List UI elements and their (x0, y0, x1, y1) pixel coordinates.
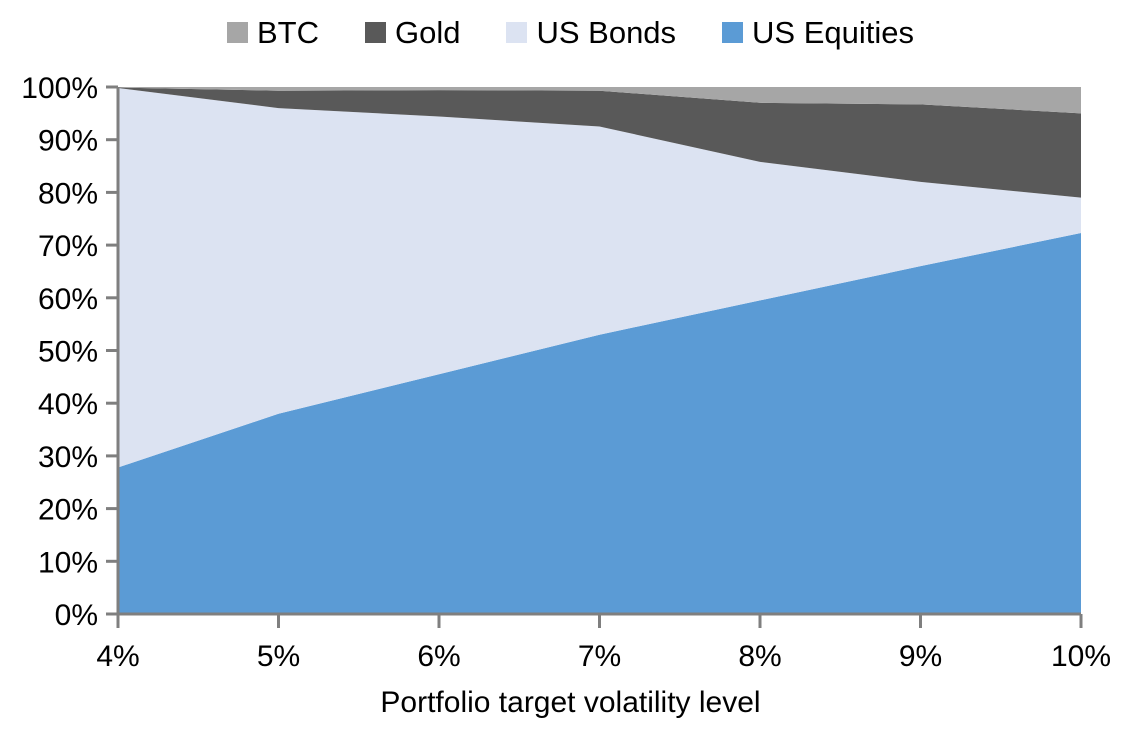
y-tick-label: 80% (38, 177, 98, 210)
x-tick-label: 10% (1051, 640, 1111, 673)
stacked-area-chart: BTC Gold US Bonds US Equities 0%10%20%30… (0, 0, 1141, 742)
y-axis-group: 0%10%20%30%40%50%60%70%80%90%100% (21, 72, 118, 632)
x-axis-group: 4%5%6%7%8%9%10% (96, 614, 1111, 673)
x-tick-label: 5% (257, 640, 300, 673)
y-tick-label: 50% (38, 336, 98, 369)
y-tick-label: 30% (38, 441, 98, 474)
y-tick-label: 70% (38, 230, 98, 263)
x-tick-label: 4% (96, 640, 139, 673)
plot-area: 0%10%20%30%40%50%60%70%80%90%100% 4%5%6%… (0, 0, 1141, 742)
x-axis-title: Portfolio target volatility level (0, 686, 1141, 720)
y-tick-label: 20% (38, 494, 98, 527)
y-tick-label: 40% (38, 388, 98, 421)
y-tick-label: 60% (38, 283, 98, 316)
y-tick-label: 0% (55, 599, 98, 632)
x-tick-label: 6% (417, 640, 460, 673)
x-tick-label: 7% (578, 640, 621, 673)
y-tick-label: 100% (21, 72, 98, 105)
x-tick-label: 9% (899, 640, 942, 673)
area-series-group (118, 87, 1081, 614)
x-tick-label: 8% (738, 640, 781, 673)
y-tick-label: 90% (38, 125, 98, 158)
y-tick-label: 10% (38, 546, 98, 579)
